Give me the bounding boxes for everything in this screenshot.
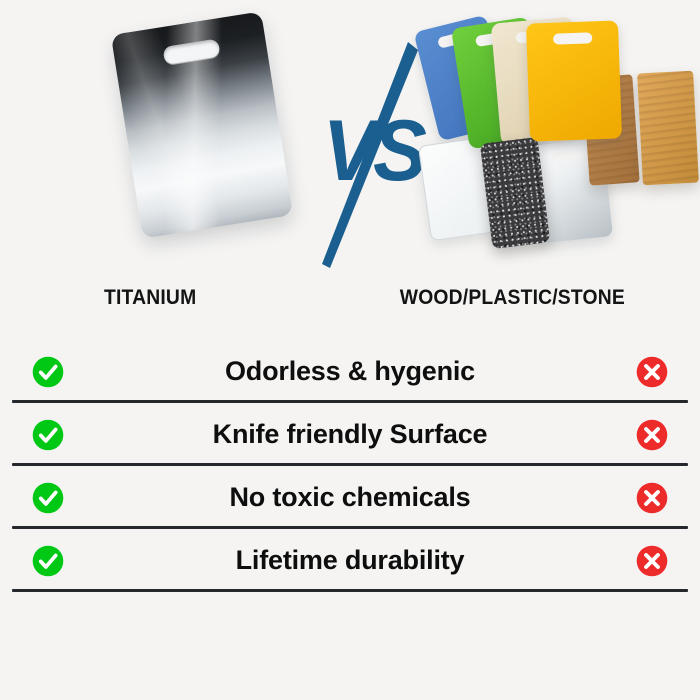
- row-left-verdict: [0, 418, 96, 452]
- row-divider: [12, 589, 688, 592]
- versus-label: VS: [312, 108, 434, 194]
- check-circle-icon: [31, 355, 65, 389]
- row-feature-label: Lifetime durability: [96, 545, 604, 576]
- alternative-boards-group: [418, 0, 700, 272]
- titanium-board-icon: [111, 11, 293, 238]
- check-circle-icon: [31, 418, 65, 452]
- hero-product-area: VS: [0, 0, 700, 272]
- row-right-verdict: [604, 355, 700, 389]
- table-row: Odorless & hygenic: [0, 340, 700, 403]
- board-handle-slot: [551, 149, 586, 162]
- row-left-verdict: [0, 355, 96, 389]
- row-left-verdict: [0, 544, 96, 578]
- comparison-infographic: VS TITANIUM WOOD/PLASTIC/STONE: [0, 0, 700, 700]
- plastic-board-yellow-icon: [526, 20, 622, 141]
- row-right-verdict: [604, 418, 700, 452]
- check-circle-icon: [31, 544, 65, 578]
- row-feature-label: No toxic chemicals: [96, 482, 604, 513]
- cross-circle-icon: [635, 418, 669, 452]
- cross-circle-icon: [635, 544, 669, 578]
- check-circle-icon: [31, 481, 65, 515]
- row-right-verdict: [604, 481, 700, 515]
- column-label-alternatives: WOOD/PLASTIC/STONE: [400, 286, 625, 310]
- column-label-titanium: TITANIUM: [104, 286, 196, 310]
- table-row: No toxic chemicals: [0, 466, 700, 529]
- table-row: Lifetime durability: [0, 529, 700, 592]
- wood-board-light-icon: [637, 71, 699, 186]
- cross-circle-icon: [635, 355, 669, 389]
- cross-circle-icon: [635, 481, 669, 515]
- comparison-table: Odorless & hygenic Knife friendly Surfac…: [0, 340, 700, 592]
- row-feature-label: Knife friendly Surface: [96, 419, 604, 450]
- row-feature-label: Odorless & hygenic: [96, 356, 604, 387]
- table-row: Knife friendly Surface: [0, 403, 700, 466]
- row-left-verdict: [0, 481, 96, 515]
- board-handle-slot: [553, 32, 592, 44]
- row-right-verdict: [604, 544, 700, 578]
